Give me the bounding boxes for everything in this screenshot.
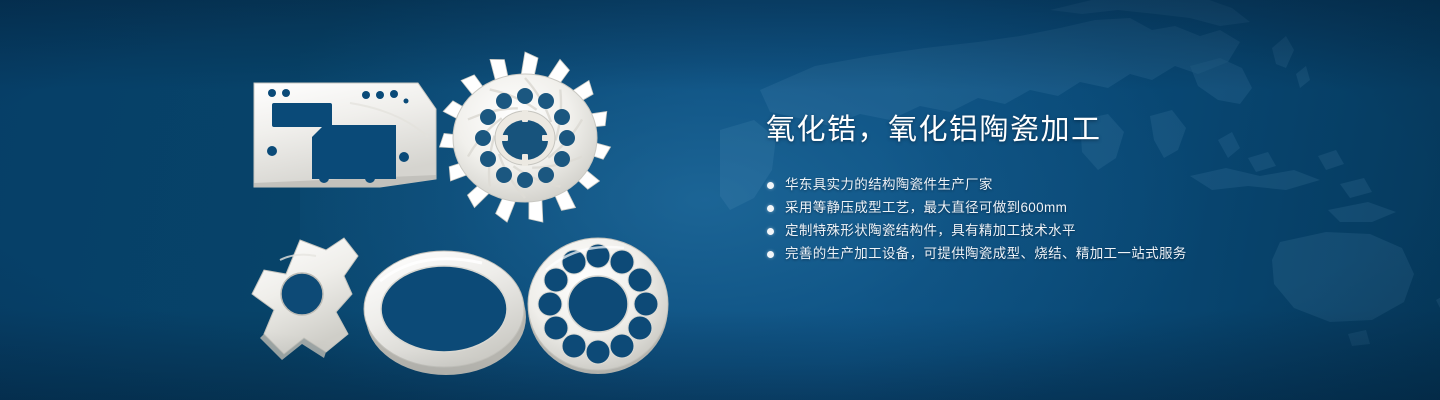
promo-banner: 氧化锆，氧化铝陶瓷加工 华东具实力的结构陶瓷件生产厂家 采用等静压成型工艺，最大…	[0, 0, 1440, 400]
background-vignette	[0, 0, 1440, 400]
